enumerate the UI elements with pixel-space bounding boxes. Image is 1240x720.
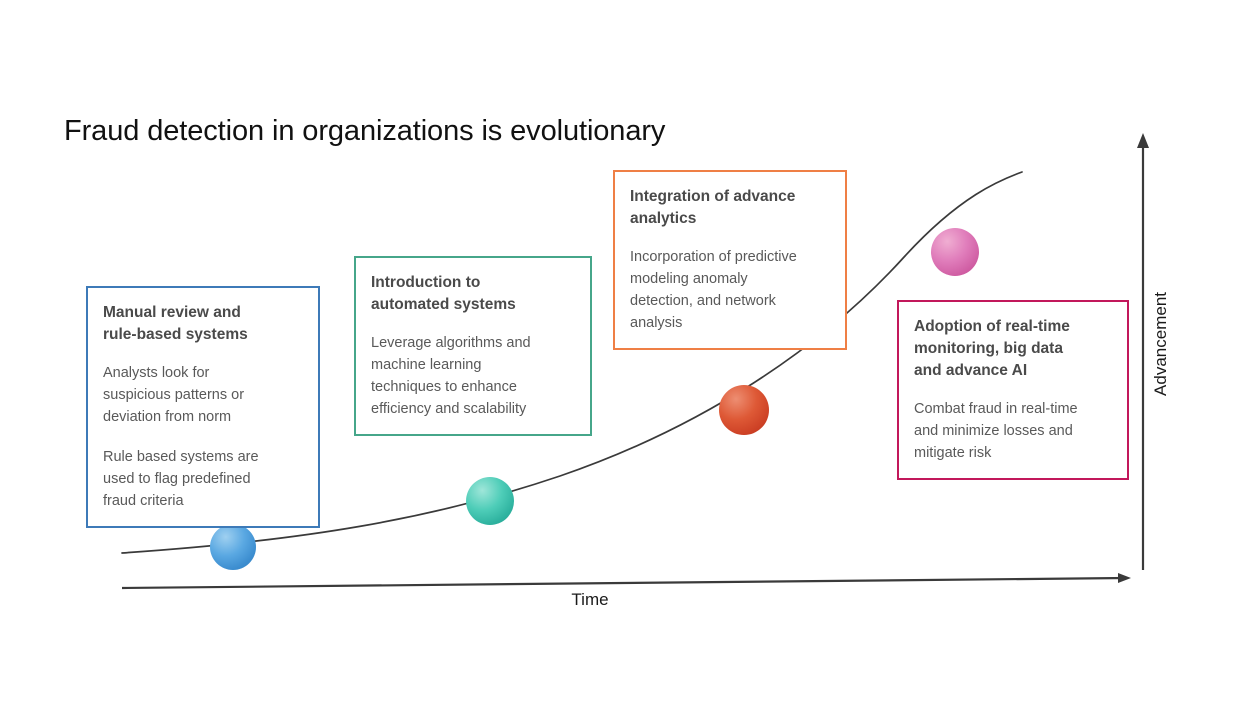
callout-heading: Manual review and rule-based systems [103,302,302,346]
x-axis [122,573,1131,588]
callout-body-1: Combat fraud in real-time and minimize l… [914,398,1111,464]
callout-body-1: Analysts look for suspicious patterns or… [103,362,302,428]
y-axis [1137,133,1149,570]
y-axis-label-wrap: Advancement [1151,188,1171,292]
callout-body-1: Incorporation of predictive modeling ano… [630,246,829,334]
milestone-marker-automated-systems[interactable] [466,477,514,525]
callout-real-time-ai[interactable]: Adoption of real-time monitoring, big da… [897,300,1129,480]
milestone-marker-advance-analytics[interactable] [719,385,769,435]
callout-body-2: Rule based systems are used to flag pred… [103,446,302,512]
x-axis-label: Time [571,590,608,609]
x-axis-label-wrap: Time [0,590,1240,610]
slide-canvas: Fraud detection in organizations is evol… [0,0,1240,720]
callout-heading: Adoption of real-time monitoring, big da… [914,316,1111,382]
callout-automated-systems[interactable]: Introduction to automated systems Levera… [354,256,592,436]
y-axis-label: Advancement [1151,292,1171,396]
callout-heading: Introduction to automated systems [371,272,574,316]
milestone-marker-real-time-ai[interactable] [931,228,979,276]
callout-heading: Integration of advance analytics [630,186,829,230]
callout-manual-review[interactable]: Manual review and rule-based systems Ana… [86,286,320,528]
callout-advance-analytics[interactable]: Integration of advance analytics Incorpo… [613,170,847,350]
page-title: Fraud detection in organizations is evol… [64,114,665,149]
milestone-marker-manual-review[interactable] [210,524,256,570]
callout-body-1: Leverage algorithms and machine learning… [371,332,574,420]
